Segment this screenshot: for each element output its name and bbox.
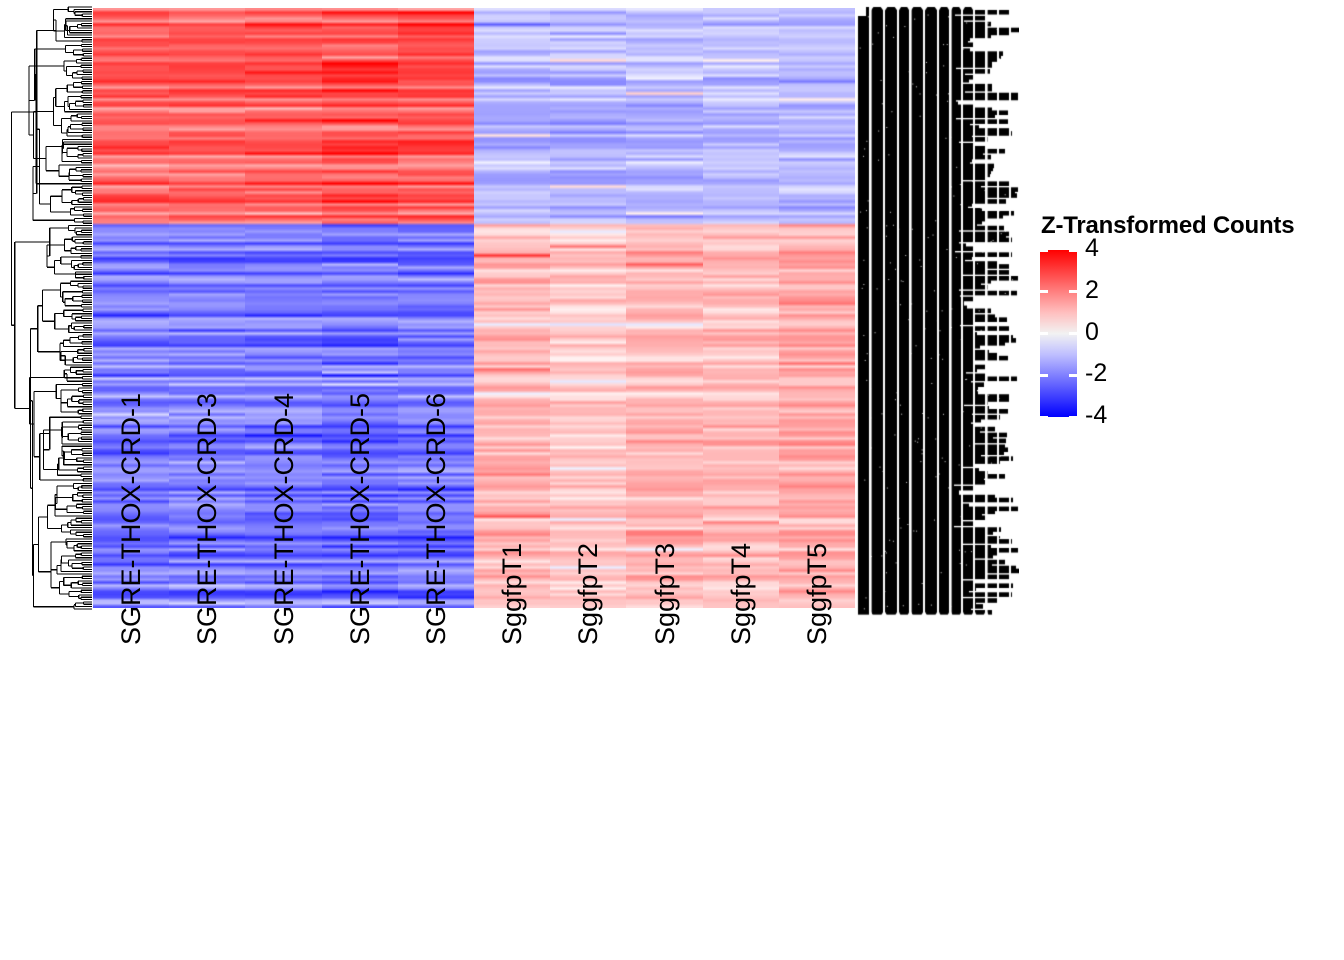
column-label-text: SggfpT5	[804, 543, 831, 645]
column-label-text: SGRE-THOX-CRD-6	[423, 393, 450, 645]
column-label-sggfpt1: SggfpT1	[474, 612, 550, 952]
column-label-sggfpt2: SggfpT2	[550, 612, 626, 952]
column-label-text: SggfpT4	[728, 543, 755, 645]
column-label-sgre-thox-crd-3: SGRE-THOX-CRD-3	[169, 612, 245, 952]
heatmap-column-sggfpt3	[626, 8, 702, 608]
column-label-sgre-thox-crd-5: SGRE-THOX-CRD-5	[322, 612, 398, 952]
heatmap-column-sggfpt5	[779, 8, 855, 608]
column-label-sggfpt5: SggfpT5	[779, 612, 855, 952]
colorbar-tick-mark	[1069, 332, 1077, 335]
colorbar-tick-label: 2	[1085, 278, 1099, 303]
colorbar-tick-mark	[1040, 249, 1048, 252]
column-axis-labels: SGRE-THOX-CRD-1SGRE-THOX-CRD-3SGRE-THOX-…	[93, 612, 855, 952]
colorbar-tick-mark	[1069, 416, 1077, 419]
colorbar-tick-mark	[1069, 290, 1077, 293]
column-label-text: SggfpT2	[575, 543, 602, 645]
dendrogram-branches	[12, 7, 93, 609]
colorbar-tick-mark	[1069, 249, 1077, 252]
column-label-text: SGRE-THOX-CRD-1	[118, 393, 145, 645]
heatmap-column-sggfpt2	[550, 8, 626, 608]
row-label-block	[857, 4, 1019, 620]
row-label-canvas	[857, 4, 1019, 620]
colorbar-tick-label: 0	[1085, 320, 1099, 345]
column-label-sggfpt3: SggfpT3	[626, 612, 702, 952]
colorbar-legend: Z-Transformed Counts 420-2-4	[1037, 212, 1327, 427]
colorbar-tick-mark	[1040, 290, 1048, 293]
colorbar-tick-label: -4	[1085, 403, 1107, 428]
column-label-sggfpt4: SggfpT4	[703, 612, 779, 952]
column-label-text: SGRE-THOX-CRD-5	[347, 393, 374, 645]
colorbar-tick-label: -2	[1085, 361, 1107, 386]
heatmap-column-canvas	[703, 8, 779, 608]
column-label-text: SGRE-THOX-CRD-4	[271, 393, 298, 645]
heatmap-column-canvas	[550, 8, 626, 608]
colorbar-tick-mark	[1040, 332, 1048, 335]
column-label-text: SGRE-THOX-CRD-3	[194, 393, 221, 645]
colorbar-tick-mark	[1040, 416, 1048, 419]
row-dendrogram-svg	[10, 6, 92, 610]
column-label-sgre-thox-crd-1: SGRE-THOX-CRD-1	[93, 612, 169, 952]
colorbar-tick-mark	[1040, 374, 1048, 377]
column-label-text: SggfpT3	[652, 543, 679, 645]
heatmap-column-sggfpt4	[703, 8, 779, 608]
column-label-text: SggfpT1	[499, 543, 526, 645]
colorbar-tick-label: 4	[1085, 236, 1099, 261]
colorbar-tick-mark	[1069, 374, 1077, 377]
heatmap-column-sggfpt1	[474, 8, 550, 608]
column-label-sgre-thox-crd-4: SGRE-THOX-CRD-4	[245, 612, 321, 952]
column-label-sgre-thox-crd-6: SGRE-THOX-CRD-6	[398, 612, 474, 952]
colorbar-title: Z-Transformed Counts	[1041, 212, 1294, 240]
heatmap-column-canvas	[474, 8, 550, 608]
row-dendrogram	[10, 6, 92, 610]
heatmap-column-canvas	[626, 8, 702, 608]
heatmap-figure: SGRE-THOX-CRD-1SGRE-THOX-CRD-3SGRE-THOX-…	[0, 0, 1344, 960]
heatmap-column-canvas	[779, 8, 855, 608]
